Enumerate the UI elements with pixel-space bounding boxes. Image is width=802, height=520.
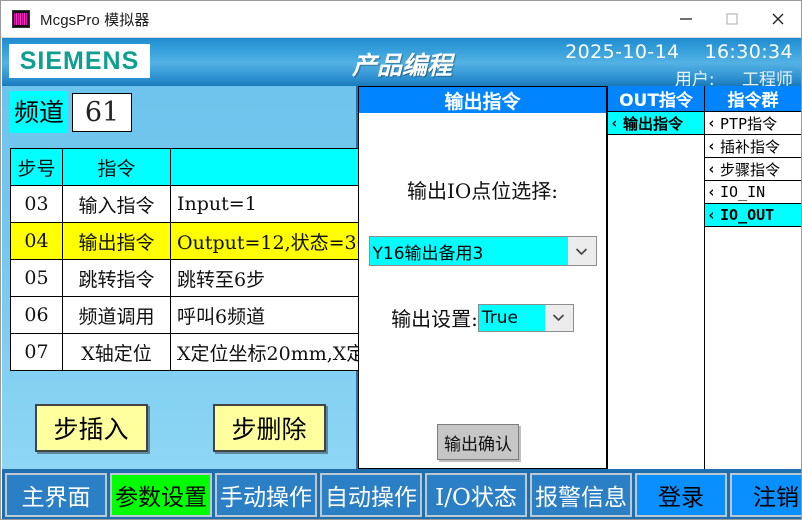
date-text: 2025-10-14	[565, 41, 679, 63]
col-header-instruction: 指令	[63, 149, 171, 186]
group-item-interpolation[interactable]: ‹ 插补指令	[705, 135, 801, 158]
step-insert-button[interactable]: 步插入	[35, 404, 148, 452]
row-detail: 跳转至6步	[171, 260, 371, 297]
program-table: 步号 指令 03 输入指令 Input=1 04 输出指令 Output=12,…	[10, 148, 371, 371]
user-label: 用户:	[675, 70, 715, 86]
group-item-label: IO_IN	[720, 183, 765, 201]
program-panel: 频道 61 步号 指令 03 输入指令 Input=1	[2, 86, 358, 469]
window-title: McgsPro 模拟器	[40, 9, 149, 30]
channel-row: 频道 61	[10, 91, 132, 133]
chevron-down-icon	[545, 305, 573, 331]
row-instruction: X轴定位	[63, 334, 171, 371]
group-item-label: 步骤指令	[720, 159, 780, 180]
bottom-navbar: 主界面 参数设置 手动操作 自动操作 I/O状态 报警信息 登录 注销	[2, 469, 802, 520]
channel-input[interactable]: 61	[72, 93, 132, 132]
nav-item-manual-operation[interactable]: 手动操作	[215, 473, 317, 517]
chevron-left-icon: ‹	[707, 183, 716, 201]
maximize-icon[interactable]	[709, 1, 755, 38]
output-setting-row: 输出设置: True	[359, 303, 606, 332]
time-text: 16:30:34	[704, 41, 793, 63]
row-step: 05	[11, 260, 63, 297]
table-row[interactable]: 04 输出指令 Output=12,状态=30	[11, 223, 371, 260]
group-item-step[interactable]: ‹ 步骤指令	[705, 158, 801, 181]
nav-item-main[interactable]: 主界面	[5, 473, 107, 517]
group-item-ptp[interactable]: ‹ PTP指令	[705, 112, 801, 135]
dialog-title: 输出指令	[359, 87, 606, 113]
group-item-label: IO_OUT	[720, 206, 774, 224]
row-detail: Output=12,状态=30	[171, 223, 371, 260]
group-item-io-out[interactable]: ‹ IO_OUT	[705, 204, 801, 227]
chevron-left-icon: ‹	[707, 137, 716, 155]
chevron-left-icon: ‹	[707, 206, 716, 224]
instruction-group-column: 指令群 ‹ PTP指令 ‹ 插补指令 ‹ 步骤指令 ‹ IO_IN ‹ IO_O…	[704, 86, 802, 469]
table-row[interactable]: 07 X轴定位 X定位坐标20mm,X定	[11, 334, 371, 371]
row-instruction: 频道调用	[63, 297, 171, 334]
nav-item-logout[interactable]: 注销	[730, 473, 802, 517]
io-point-label: 输出IO点位选择:	[359, 175, 606, 204]
io-point-select[interactable]: Y16输出备用3	[369, 236, 597, 266]
header-banner: SIEMENS 产品编程 2025-10-14 16:30:34 用户: 工程师	[2, 38, 802, 86]
app-icon	[12, 10, 30, 28]
row-instruction: 输出指令	[63, 223, 171, 260]
row-detail: X定位坐标20mm,X定	[171, 334, 371, 371]
channel-label: 频道	[10, 91, 68, 133]
col-header-detail	[171, 149, 371, 186]
row-step: 04	[11, 223, 63, 260]
application-window: McgsPro 模拟器 SIEMENS 产品编程 2025-10-14 16:3…	[0, 0, 802, 520]
col-header-step: 步号	[11, 149, 63, 186]
instruction-columns: OUT指令 ‹ 输出指令 指令群 ‹ PTP指令 ‹ 插补指令 ‹ 步骤指令 ‹	[607, 86, 802, 469]
table-row[interactable]: 05 跳转指令 跳转至6步	[11, 260, 371, 297]
step-delete-button[interactable]: 步删除	[213, 404, 326, 452]
row-instruction: 跳转指令	[63, 260, 171, 297]
group-item-label: 插补指令	[720, 136, 780, 157]
nav-item-auto-operation[interactable]: 自动操作	[320, 473, 422, 517]
group-item-label: PTP指令	[720, 113, 777, 134]
user-value: 工程师	[742, 70, 793, 86]
io-point-value: Y16输出备用3	[370, 237, 568, 265]
nav-item-alarm-info[interactable]: 报警信息	[530, 473, 632, 517]
nav-item-io-status[interactable]: I/O状态	[425, 473, 527, 517]
window-controls	[663, 1, 801, 38]
chevron-left-icon: ‹	[707, 160, 716, 178]
output-setting-value: True	[479, 305, 545, 331]
row-step: 03	[11, 186, 63, 223]
table-row[interactable]: 06 频道调用 呼叫6频道	[11, 297, 371, 334]
datetime-display: 2025-10-14 16:30:34	[565, 41, 793, 63]
close-icon[interactable]	[755, 1, 801, 38]
group-column-header: 指令群	[705, 86, 801, 112]
chevron-left-icon: ‹	[707, 114, 716, 132]
out-instruction-column: OUT指令 ‹ 输出指令	[607, 86, 704, 469]
output-confirm-button[interactable]: 输出确认	[437, 424, 519, 460]
chevron-left-icon: ‹	[610, 114, 619, 132]
output-setting-select[interactable]: True	[478, 304, 574, 332]
out-column-header: OUT指令	[608, 86, 704, 112]
row-instruction: 输入指令	[63, 186, 171, 223]
row-detail: Input=1	[171, 186, 371, 223]
nav-item-login[interactable]: 登录	[635, 473, 727, 517]
output-setting-label: 输出设置:	[391, 303, 478, 332]
out-item-label: 输出指令	[623, 113, 683, 134]
output-instruction-dialog: 输出指令 输出IO点位选择: Y16输出备用3 输出设置: True 输出确认	[358, 86, 607, 469]
row-step: 06	[11, 297, 63, 334]
table-header-row: 步号 指令	[11, 149, 371, 186]
table-row[interactable]: 03 输入指令 Input=1	[11, 186, 371, 223]
minimize-icon[interactable]	[663, 1, 709, 38]
row-detail: 呼叫6频道	[171, 297, 371, 334]
group-item-io-in[interactable]: ‹ IO_IN	[705, 181, 801, 204]
nav-item-parameter-settings[interactable]: 参数设置	[110, 473, 212, 517]
row-step: 07	[11, 334, 63, 371]
user-display: 用户: 工程师	[565, 65, 793, 86]
out-item-output-instruction[interactable]: ‹ 输出指令	[608, 112, 704, 135]
window-titlebar: McgsPro 模拟器	[1, 1, 801, 38]
step-buttons: 步插入 步删除	[2, 404, 358, 452]
chevron-down-icon	[568, 237, 596, 265]
header-status: 2025-10-14 16:30:34 用户: 工程师	[565, 41, 793, 86]
